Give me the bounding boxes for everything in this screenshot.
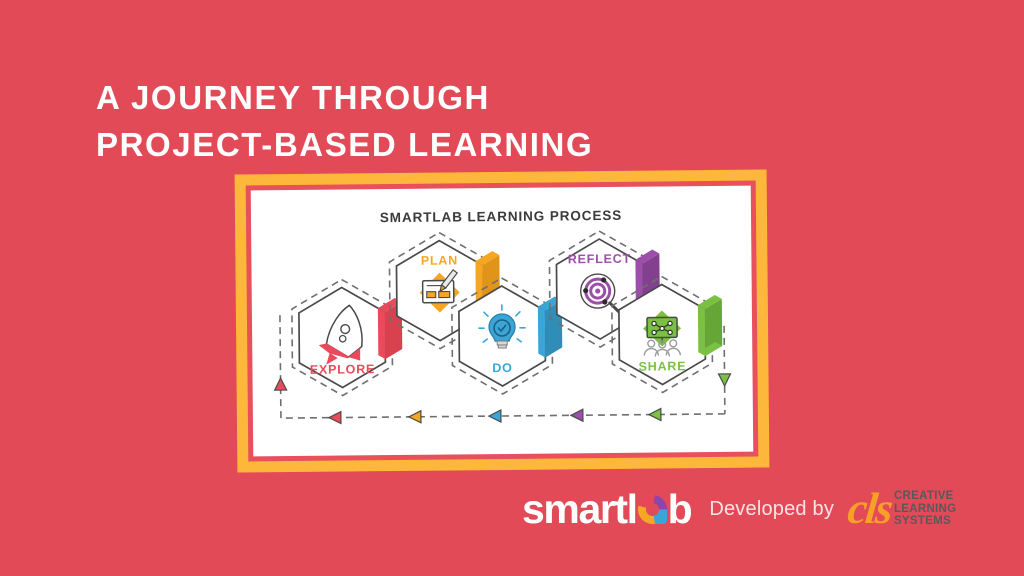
- loop-arrow-reflect: [571, 409, 583, 421]
- loop-arrow-up-explore: [275, 378, 287, 390]
- title-line-2: PROJECT-BASED LEARNING: [96, 121, 716, 168]
- smartlab-logo: smartlb: [522, 489, 691, 530]
- smartlab-text-before: sm: [522, 489, 578, 530]
- learning-process-diagram: EXPLORE: [251, 186, 754, 457]
- title-line-1: A JOURNEY THROUGH: [96, 74, 716, 121]
- hex-label-reflect: REFLECT: [568, 252, 631, 267]
- hex-label-do: DO: [492, 361, 512, 375]
- hex-step-explore[interactable]: EXPLORE: [292, 279, 393, 396]
- hex-label-explore: EXPLORE: [310, 362, 375, 377]
- cls-word-creative: CREATIVE: [894, 490, 956, 503]
- diagram-card: SMARTLAB LEARNING PROCESS: [235, 169, 770, 472]
- cls-wordmark: CREATIVE LEARNING SYSTEMS: [894, 490, 956, 528]
- slide-canvas: A JOURNEY THROUGH PROJECT-BASED LEARNING…: [0, 0, 1024, 576]
- loop-arrow-plan: [409, 411, 421, 423]
- loop-arrow-down-share: [719, 374, 731, 386]
- smartlab-text-middle: artl: [578, 489, 636, 530]
- smartlab-text-after: b: [668, 489, 692, 530]
- loop-arrow-share: [649, 408, 661, 420]
- footer-logos: smartlb Developed by cls CREATIVE LEARNI…: [522, 484, 956, 534]
- developed-by-label: Developed by: [709, 498, 834, 521]
- cls-word-systems: SYSTEMS: [894, 515, 956, 528]
- page-title: A JOURNEY THROUGH PROJECT-BASED LEARNING: [96, 74, 716, 168]
- cls-script-mark: cls: [846, 487, 894, 531]
- loop-arrow-do: [489, 410, 501, 422]
- loop-arrow-explore: [329, 412, 341, 424]
- card-inner-surface: SMARTLAB LEARNING PROCESS: [251, 186, 754, 457]
- hex-label-plan: PLAN: [421, 253, 458, 267]
- cls-word-learning: LEARNING: [894, 503, 956, 516]
- hex-label-share: SHARE: [638, 359, 686, 373]
- cls-logo: cls CREATIVE LEARNING SYSTEMS: [848, 487, 956, 531]
- speech-bubble-a-icon: [638, 495, 667, 524]
- connector-share-outgoing: [698, 295, 723, 356]
